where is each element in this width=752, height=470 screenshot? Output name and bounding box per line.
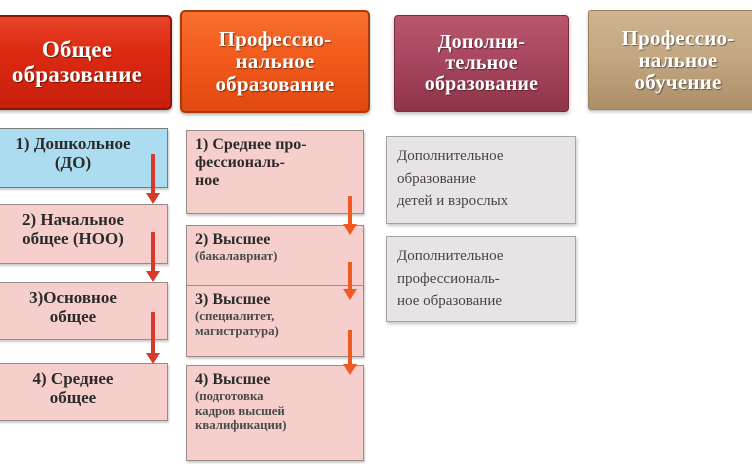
arrow-down-general-2-to-3 (146, 232, 160, 282)
header-training-line-3: обучение (635, 71, 722, 93)
header-professional-line-1: Профессио- (219, 28, 332, 50)
additional-box-2-line-3: ное образование (397, 290, 565, 313)
general-level-1-preschool: 1) Дошкольное (ДО) (0, 128, 168, 188)
general-level-3-title: 3)Основное (0, 288, 159, 307)
professional-level-4-title: 4) Высшее (195, 371, 355, 389)
general-level-4-sub: общее (0, 388, 159, 407)
professional-level-3-specialist-master: 3) Высшее (специалитет, магистратура) (186, 285, 364, 357)
arrow-head (343, 289, 357, 300)
professional-level-2-title: 2) Высшее (195, 231, 355, 249)
additional-box-1-line-3: детей и взрослых (397, 190, 565, 213)
professional-level-3-title: 3) Высшее (195, 291, 355, 309)
arrow-shaft (348, 196, 352, 224)
education-structure-diagram: Общее образование Профессио- нальное обр… (0, 0, 752, 470)
additional-box-1-line-1: Дополнительное (397, 145, 565, 168)
professional-level-4-postgraduate: 4) Высшее (подготовка кадров высшей квал… (186, 365, 364, 461)
professional-level-1-sub: фессиональ- (195, 154, 355, 172)
general-level-3-basic: 3)Основное общее (0, 282, 168, 340)
professional-level-4-sub: (подготовка (195, 389, 355, 404)
additional-professional-education: Дополнительное профессиональ- ное образо… (386, 236, 576, 322)
arrow-down-professional-1-to-2 (343, 196, 357, 236)
professional-level-2-bachelor: 2) Высшее (бакалавриат) (186, 225, 364, 287)
arrow-shaft (151, 232, 155, 271)
additional-box-1-line-2: образование (397, 168, 565, 191)
general-level-1-sub: (ДО) (0, 153, 159, 172)
professional-level-4-sub2: кадров высшей (195, 404, 355, 419)
additional-box-2-line-1: Дополнительное (397, 245, 565, 268)
arrow-down-general-1-to-2 (146, 154, 160, 204)
arrow-down-professional-2-to-3 (343, 262, 357, 300)
professional-level-2-sub: (бакалавриат) (195, 249, 355, 264)
header-additional-education: Дополни- тельное образование (394, 15, 569, 112)
general-level-4-title: 4) Среднее (0, 369, 159, 388)
general-level-2-primary: 2) Начальное общее (НОО) (0, 204, 168, 264)
header-professional-line-2: нальное (236, 50, 315, 72)
header-additional-line-1: Дополни- (438, 32, 526, 53)
arrow-shaft (151, 312, 155, 353)
professional-level-1-vocational: 1) Среднее про- фессиональ- ное (186, 130, 364, 214)
arrow-head (146, 353, 160, 364)
header-general-line-1: Общее (42, 38, 112, 62)
arrow-shaft (151, 154, 155, 193)
arrow-down-professional-3-to-4 (343, 330, 357, 376)
header-training-line-2: нальное (639, 49, 718, 71)
header-additional-line-2: тельное (445, 53, 517, 74)
arrow-shaft (348, 262, 352, 289)
header-professional-education: Профессио- нальное образование (180, 10, 370, 113)
header-professional-line-3: образование (215, 73, 334, 95)
arrow-down-general-3-to-4 (146, 312, 160, 364)
arrow-head (146, 193, 160, 204)
professional-level-3-sub: (специалитет, (195, 309, 355, 324)
general-level-2-sub: общее (НОО) (0, 229, 159, 248)
additional-box-2-line-2: профессиональ- (397, 268, 565, 291)
header-training-line-1: Профессио- (622, 27, 735, 49)
professional-level-3-sub2: магистратура) (195, 324, 355, 339)
arrow-head (343, 224, 357, 235)
header-general-line-2: образование (12, 63, 142, 87)
professional-level-1-title: 1) Среднее про- (195, 136, 355, 154)
header-general-education: Общее образование (0, 15, 172, 110)
additional-education-children-adults: Дополнительное образование детей и взрос… (386, 136, 576, 224)
professional-level-4-sub3: квалификации) (195, 418, 355, 433)
arrow-head (146, 271, 160, 282)
professional-level-1-sub2: ное (195, 172, 355, 190)
arrow-shaft (348, 330, 352, 364)
general-level-4-secondary: 4) Среднее общее (0, 363, 168, 421)
header-additional-line-3: образование (425, 74, 538, 95)
general-level-3-sub: общее (0, 307, 159, 326)
general-level-2-title: 2) Начальное (0, 210, 159, 229)
header-professional-training: Профессио- нальное обучение (588, 10, 752, 110)
arrow-head (343, 364, 357, 375)
general-level-1-title: 1) Дошкольное (0, 134, 159, 153)
